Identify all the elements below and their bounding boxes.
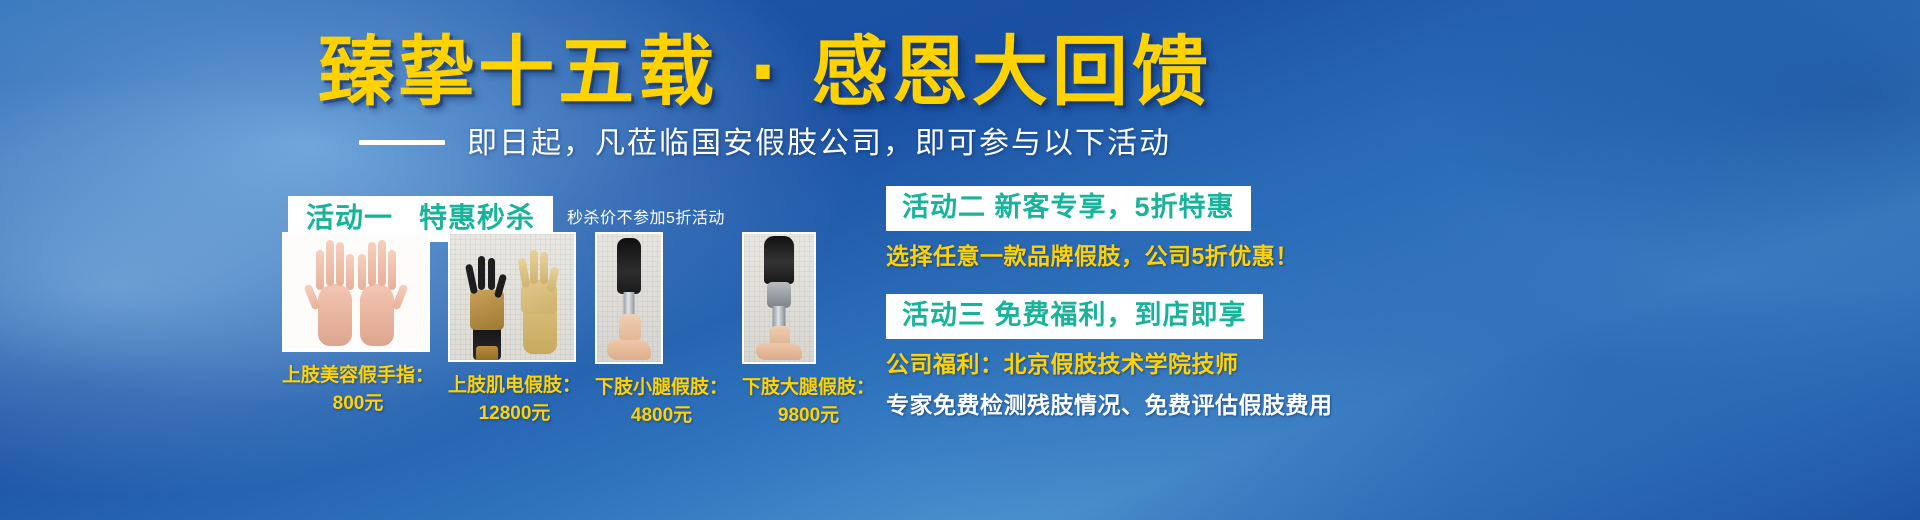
myoelectric-hand-illustration [450, 234, 574, 360]
product-label: 下肢小腿假肢： [595, 374, 728, 402]
promo-three-detail-1: 公司福利：北京假肢技术学院技师 [886, 348, 1526, 380]
product-price: 9800元 [742, 402, 875, 430]
product-label: 上肢美容假手指： [282, 362, 434, 390]
cosmetic-fingers-illustration [284, 234, 428, 350]
promo-two-detail: 选择任意一款品牌假肢，公司5折优惠！ [886, 240, 1526, 272]
promo-three-section: 活动三 免费福利，到店即享 公司福利：北京假肢技术学院技师 专家免费检测残肢情况… [886, 294, 1526, 421]
above-knee-prosthesis-image [742, 232, 816, 364]
subtitle-container: 即日起，凡莅临国安假肢公司，即可参与以下活动 [0, 122, 1530, 166]
promo-three-detail-2: 专家免费检测残肢情况、免费评估假肢费用 [886, 389, 1526, 421]
promo-right-column: 活动二 新客专享，5折特惠 选择任意一款品牌假肢，公司5折优惠！ 活动三 免费福… [886, 186, 1526, 421]
promotional-banner: 臻挚十五载 · 感恩大回馈 即日起，凡莅临国安假肢公司，即可参与以下活动 活动一… [0, 0, 1920, 520]
product-item[interactable]: 上肢美容假手指： 800元 [282, 232, 434, 418]
promo-two-section: 活动二 新客专享，5折特惠 选择任意一款品牌假肢，公司5折优惠！ [886, 186, 1526, 272]
product-label: 下肢大腿假肢： [742, 374, 875, 402]
product-price: 12800元 [448, 400, 581, 428]
product-label: 上肢肌电假肢： [448, 372, 581, 400]
headline-container: 臻挚十五载 · 感恩大回馈 [0, 28, 1530, 116]
promo-one-badge-title: 特惠秒杀 [419, 202, 535, 233]
above-knee-prosthesis-illustration [744, 234, 814, 362]
banner-headline: 臻挚十五载 · 感恩大回馈 [318, 28, 1212, 116]
below-knee-prosthesis-image [595, 232, 663, 364]
product-list: 上肢美容假手指： 800元 [282, 232, 875, 430]
promo-three-badge: 活动三 免费福利，到店即享 [886, 294, 1263, 339]
banner-subtitle-row: 即日起，凡莅临国安假肢公司，即可参与以下活动 [359, 122, 1171, 166]
promo-one-note: 秒杀价不参加5折活动 [567, 209, 725, 229]
promo-one-badge-prefix: 活动一 [306, 202, 393, 233]
rule-decoration [359, 140, 445, 145]
banner-subtitle: 即日起，凡莅临国安假肢公司，即可参与以下活动 [467, 127, 1171, 160]
product-item[interactable]: 下肢小腿假肢： 4800元 [595, 232, 728, 430]
product-item[interactable]: 上肢肌电假肢： 12800元 [448, 232, 581, 428]
cosmetic-fingers-image [282, 232, 430, 352]
product-item[interactable]: 下肢大腿假肢： 9800元 [742, 232, 875, 430]
myoelectric-hand-image [448, 232, 576, 362]
product-price: 4800元 [595, 402, 728, 430]
promo-two-badge: 活动二 新客专享，5折特惠 [886, 186, 1251, 231]
product-price: 800元 [282, 390, 434, 418]
below-knee-prosthesis-illustration [597, 234, 661, 362]
